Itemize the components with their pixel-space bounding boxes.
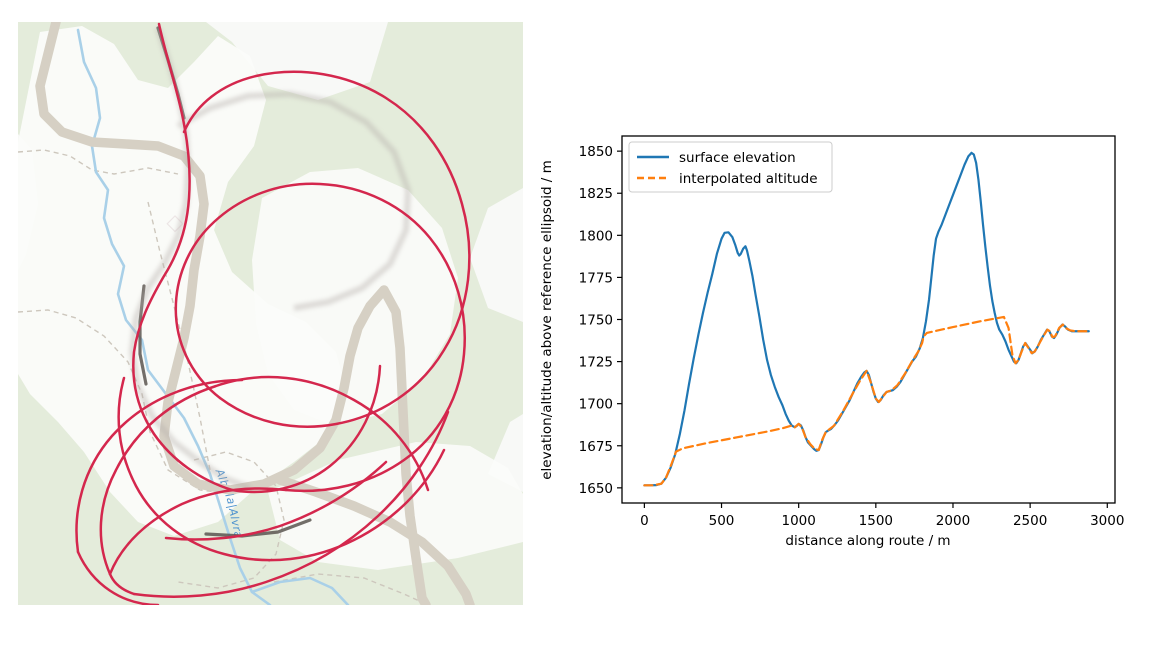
x-tick-label: 2500 xyxy=(1013,513,1047,529)
x-tick-label: 1000 xyxy=(781,513,815,529)
y-tick-label: 1650 xyxy=(579,481,613,497)
map-panel[interactable]: Albula|Alvra xyxy=(18,22,523,605)
y-tick-label: 1750 xyxy=(579,313,613,329)
y-tick-label: 1675 xyxy=(579,439,613,455)
x-tick-label: 1500 xyxy=(859,513,893,529)
x-tick-label: 3000 xyxy=(1090,513,1124,529)
chart-background xyxy=(523,0,1149,660)
y-tick-label: 1850 xyxy=(579,144,613,160)
elevation-chart-panel[interactable]: 050010001500200025003000 165016751700172… xyxy=(523,0,1149,660)
y-tick-label: 1700 xyxy=(579,397,613,413)
y-tick-label: 1725 xyxy=(579,355,613,371)
legend-label-interpolated-altitude: interpolated altitude xyxy=(679,171,818,187)
y-tick-label: 1825 xyxy=(579,186,613,202)
x-tick-label: 2000 xyxy=(936,513,970,529)
y-tick-label: 1800 xyxy=(579,228,613,244)
x-tick-label: 0 xyxy=(640,513,649,529)
y-axis-label: elevation/altitude above reference ellip… xyxy=(539,160,555,480)
y-tick-label: 1775 xyxy=(579,270,613,286)
chart-legend[interactable]: surface elevation interpolated altitude xyxy=(629,142,832,192)
x-axis-label: distance along route / m xyxy=(785,533,950,549)
legend-label-surface-elevation: surface elevation xyxy=(679,150,796,166)
map-canvas[interactable]: Albula|Alvra xyxy=(18,22,523,605)
x-tick-label: 500 xyxy=(709,513,735,529)
chart-canvas[interactable]: 050010001500200025003000 165016751700172… xyxy=(523,0,1149,660)
